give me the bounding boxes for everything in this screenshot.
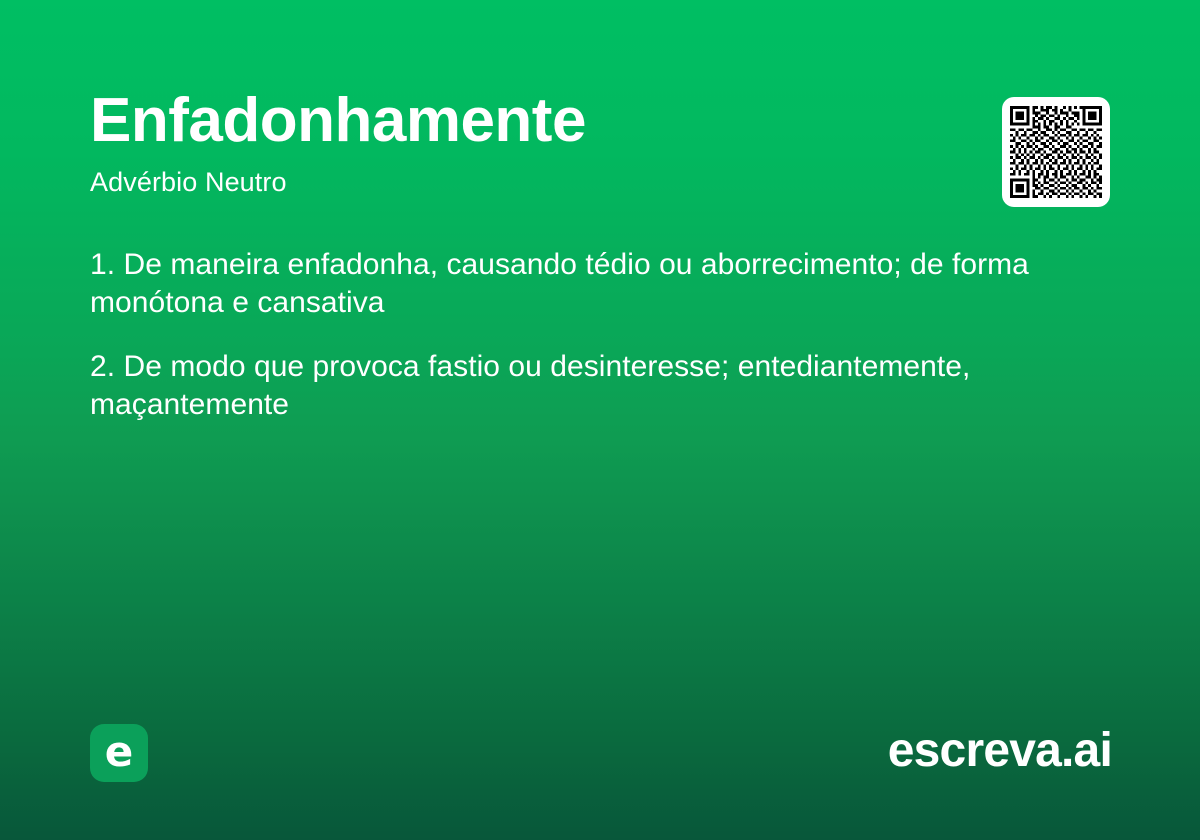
qr-code-icon bbox=[1010, 106, 1102, 198]
definition-list: 1. De maneira enfadonha, causando tédio … bbox=[90, 246, 1090, 424]
page-title: Enfadonhamente bbox=[90, 88, 586, 153]
brand-wordmark: escreva.ai bbox=[888, 722, 1112, 780]
escreva-logo-icon: e bbox=[90, 724, 148, 782]
part-of-speech-label: Advérbio Neutro bbox=[90, 167, 287, 198]
definition-item: 1. De maneira enfadonha, causando tédio … bbox=[90, 246, 1090, 322]
logo-letter: e bbox=[105, 731, 134, 773]
qr-code-card[interactable] bbox=[1002, 97, 1110, 207]
dictionary-card: Enfadonhamente Advérbio Neutro 1. De man… bbox=[0, 0, 1200, 840]
definition-item: 2. De modo que provoca fastio ou desinte… bbox=[90, 348, 1090, 424]
